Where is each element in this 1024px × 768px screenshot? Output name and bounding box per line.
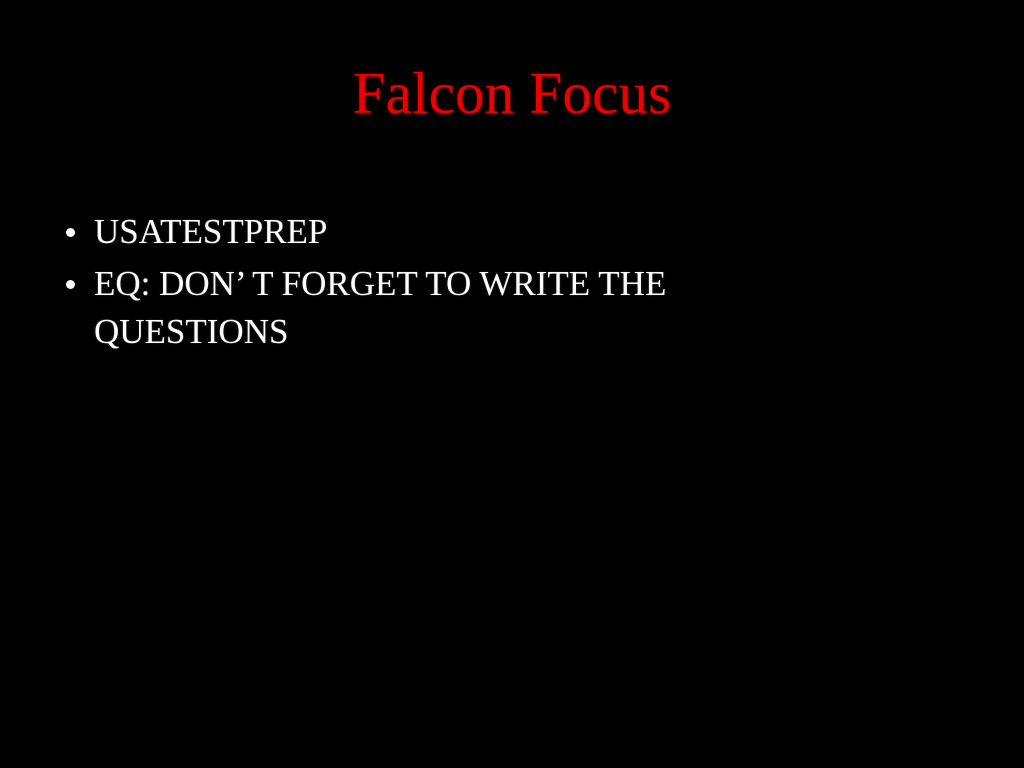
list-item: EQ: DON’ T FORGET TO WRITE THE QUESTIONS (58, 260, 794, 356)
list-item-label: USATESTPREP (94, 212, 327, 251)
presentation-slide: Falcon Focus USATESTPREP EQ: DON’ T FORG… (0, 0, 1024, 768)
bullet-dot-icon (66, 280, 75, 289)
list-item-label: EQ: DON’ T FORGET TO WRITE THE QUESTIONS (94, 264, 666, 351)
page-title: Falcon Focus (0, 62, 1024, 125)
list-item: USATESTPREP (58, 208, 794, 256)
bullet-dot-icon (66, 228, 75, 237)
bullet-list: USATESTPREP EQ: DON’ T FORGET TO WRITE T… (58, 208, 958, 360)
